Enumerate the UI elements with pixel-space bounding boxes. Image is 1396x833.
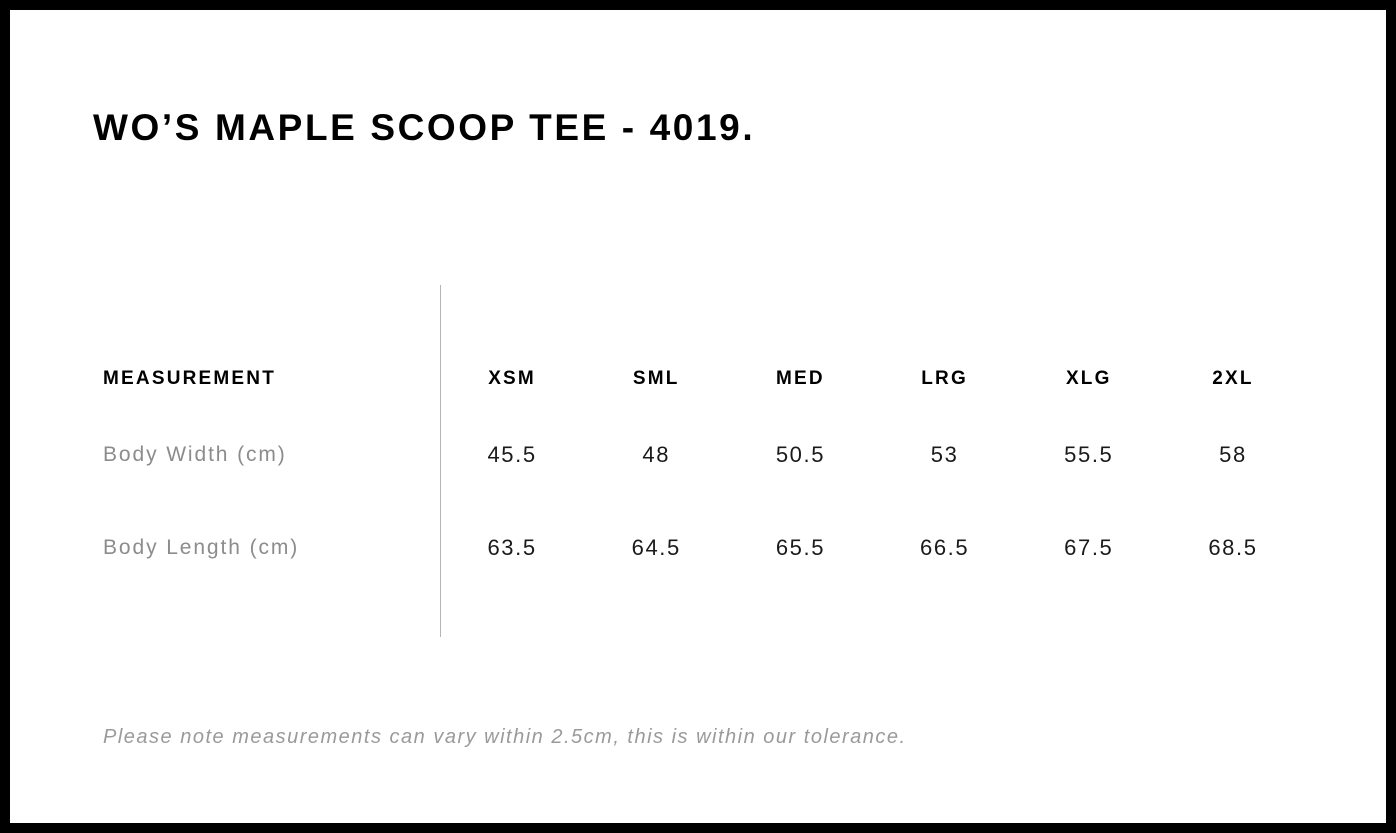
cell-body-width-xlg: 55.5 [1017, 442, 1161, 468]
cell-body-length-lrg: 66.5 [873, 535, 1017, 561]
column-header-xsm: XSM [440, 368, 584, 390]
cell-body-length-xsm: 63.5 [440, 535, 584, 561]
tolerance-note: Please note measurements can vary within… [103, 726, 907, 749]
cell-body-length-med: 65.5 [728, 535, 872, 561]
column-header-measurement: MEASUREMENT [93, 368, 440, 390]
cell-body-length-xlg: 67.5 [1017, 535, 1161, 561]
cell-body-width-med: 50.5 [728, 442, 872, 468]
table-row: Body Length (cm) 63.5 64.5 65.5 66.5 67.… [93, 501, 1305, 594]
table-row: Body Width (cm) 45.5 48 50.5 53 55.5 58 [93, 408, 1305, 501]
column-header-xlg: XLG [1017, 368, 1161, 390]
cell-body-width-lrg: 53 [873, 442, 1017, 468]
size-chart-inner: WO’S MAPLE SCOOP TEE - 4019. MEASUREMENT… [10, 10, 1386, 823]
row-label-body-length: Body Length (cm) [93, 536, 440, 560]
row-label-body-width: Body Width (cm) [93, 443, 440, 467]
table-header-row: MEASUREMENT XSM SML MED LRG XLG 2XL [93, 350, 1305, 408]
column-header-med: MED [728, 368, 872, 390]
page-title: WO’S MAPLE SCOOP TEE - 4019. [93, 108, 755, 149]
column-header-2xl: 2XL [1161, 368, 1305, 390]
cell-body-width-xsm: 45.5 [440, 442, 584, 468]
column-header-lrg: LRG [873, 368, 1017, 390]
cell-body-length-sml: 64.5 [584, 535, 728, 561]
size-chart-table: MEASUREMENT XSM SML MED LRG XLG 2XL Body… [93, 350, 1305, 594]
column-header-sml: SML [584, 368, 728, 390]
cell-body-width-2xl: 58 [1161, 442, 1305, 468]
cell-body-length-2xl: 68.5 [1161, 535, 1305, 561]
cell-body-width-sml: 48 [584, 442, 728, 468]
size-chart-page: WO’S MAPLE SCOOP TEE - 4019. MEASUREMENT… [0, 0, 1396, 833]
